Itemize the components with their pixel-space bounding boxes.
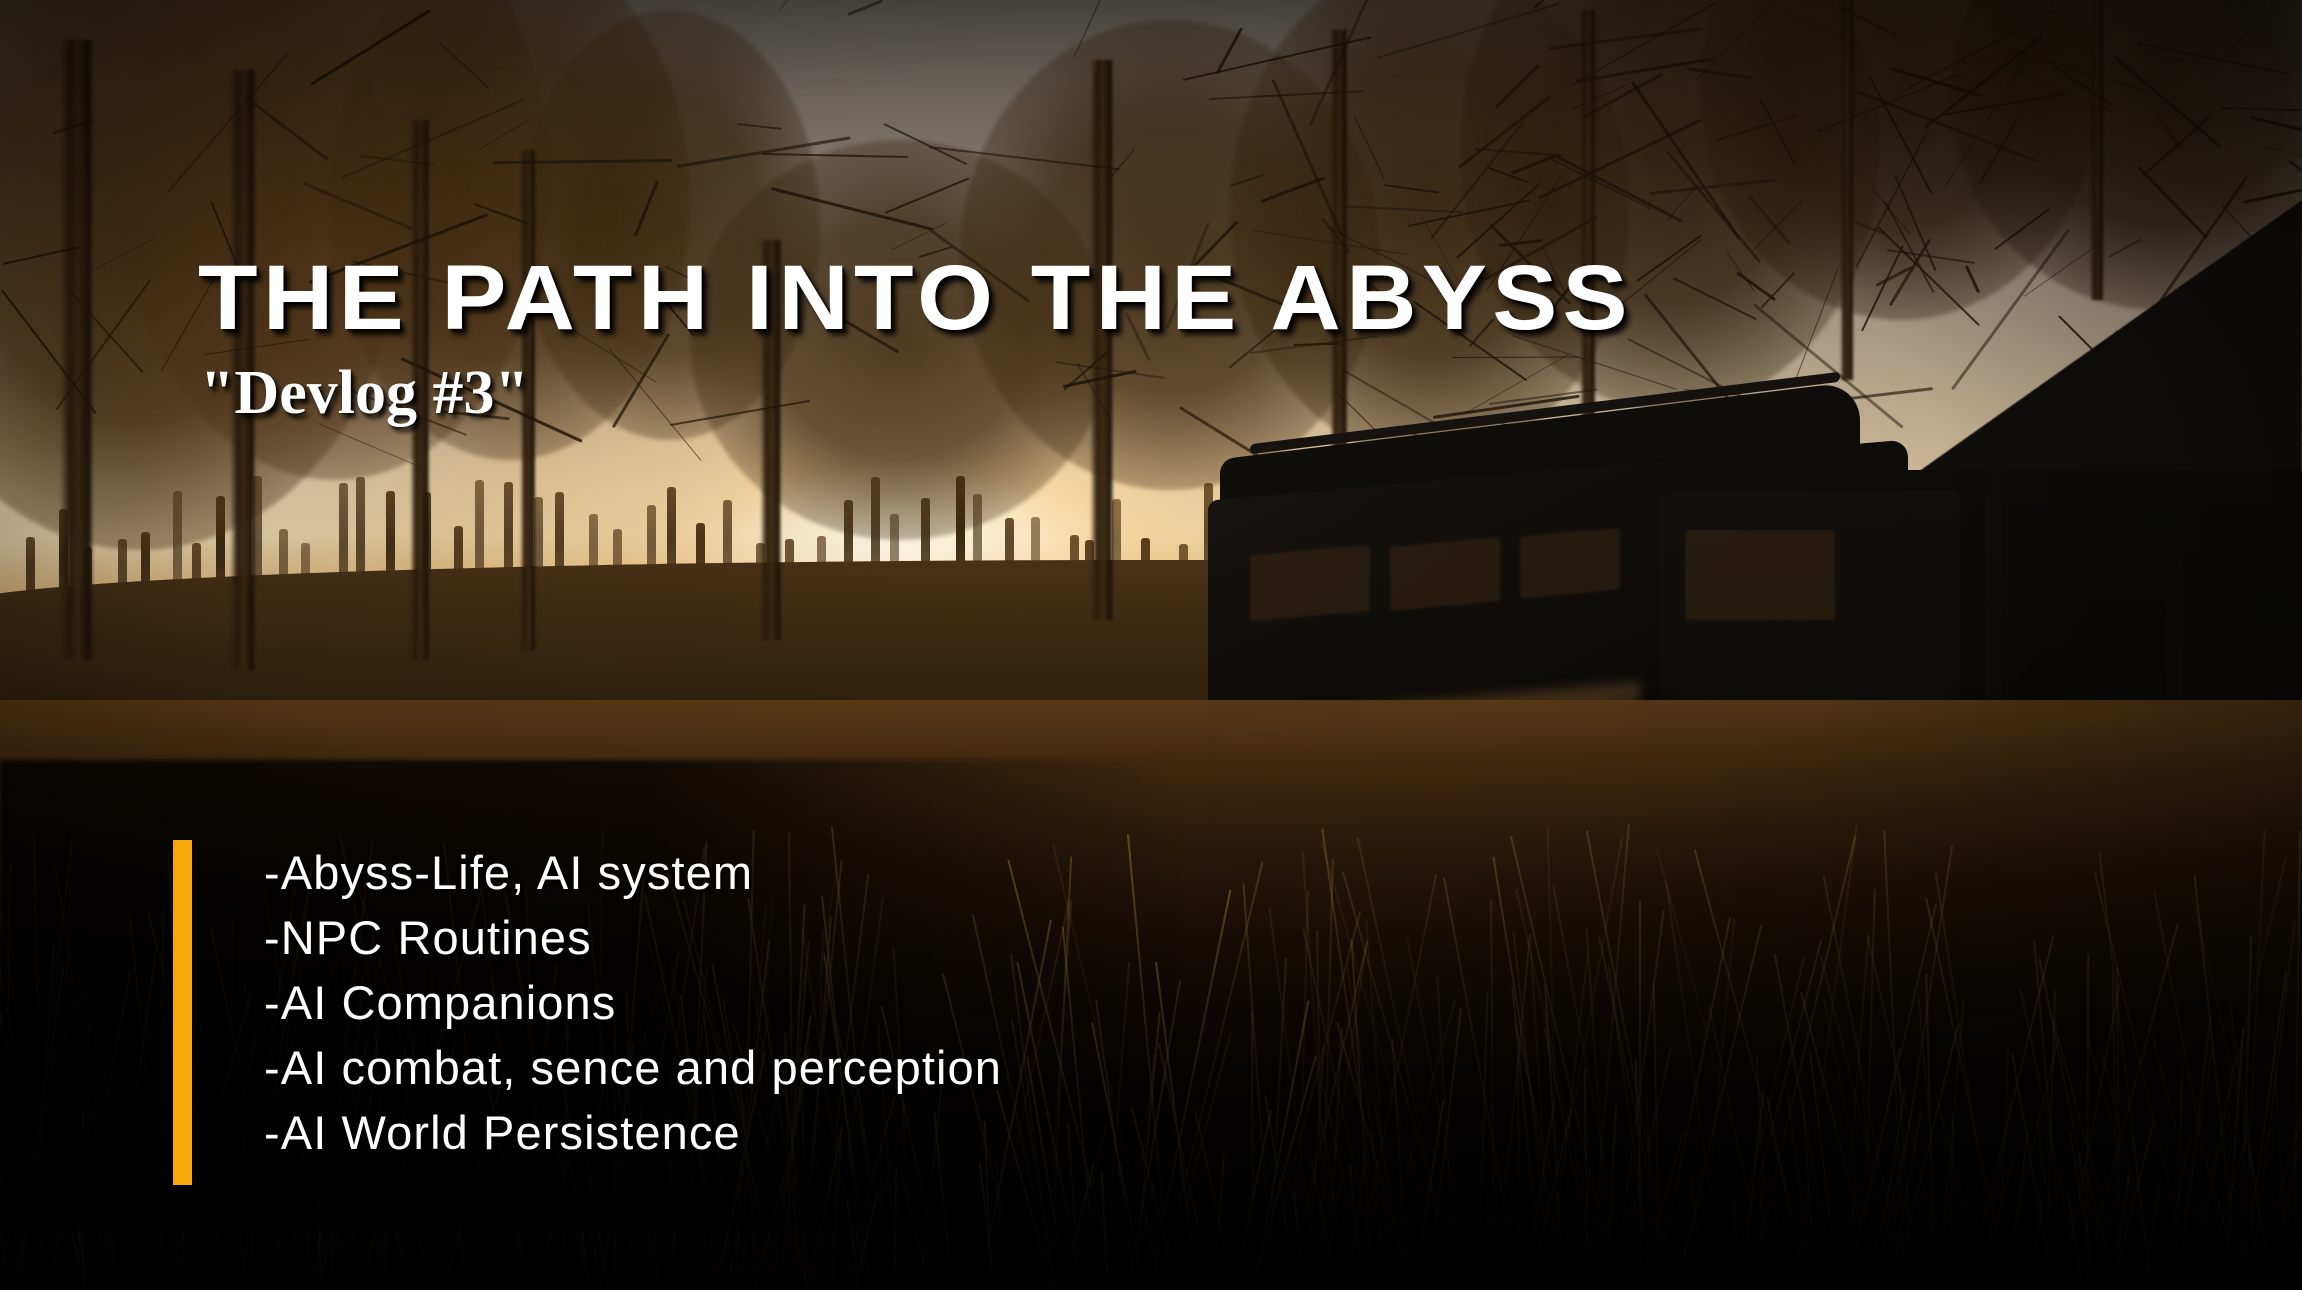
topics-panel: -Abyss-Life, AI system-NPC Routines-AI C…	[173, 840, 1373, 1185]
devlog-slide: THE PATH INTO THE ABYSS "Devlog #3" -Aby…	[0, 0, 2302, 1290]
topic-item: -Abyss-Life, AI system	[264, 840, 1373, 905]
page-subtitle: "Devlog #3"	[200, 362, 529, 424]
topic-item: -AI combat, sence and perception	[264, 1035, 1373, 1100]
topics-list: -Abyss-Life, AI system-NPC Routines-AI C…	[264, 840, 1373, 1165]
text-overlay: THE PATH INTO THE ABYSS "Devlog #3" -Aby…	[0, 0, 2302, 1290]
topic-item: -AI World Persistence	[264, 1100, 1373, 1165]
topic-item: -NPC Routines	[264, 905, 1373, 970]
topic-item: -AI Companions	[264, 970, 1373, 1035]
page-title: THE PATH INTO THE ABYSS	[198, 252, 1633, 344]
